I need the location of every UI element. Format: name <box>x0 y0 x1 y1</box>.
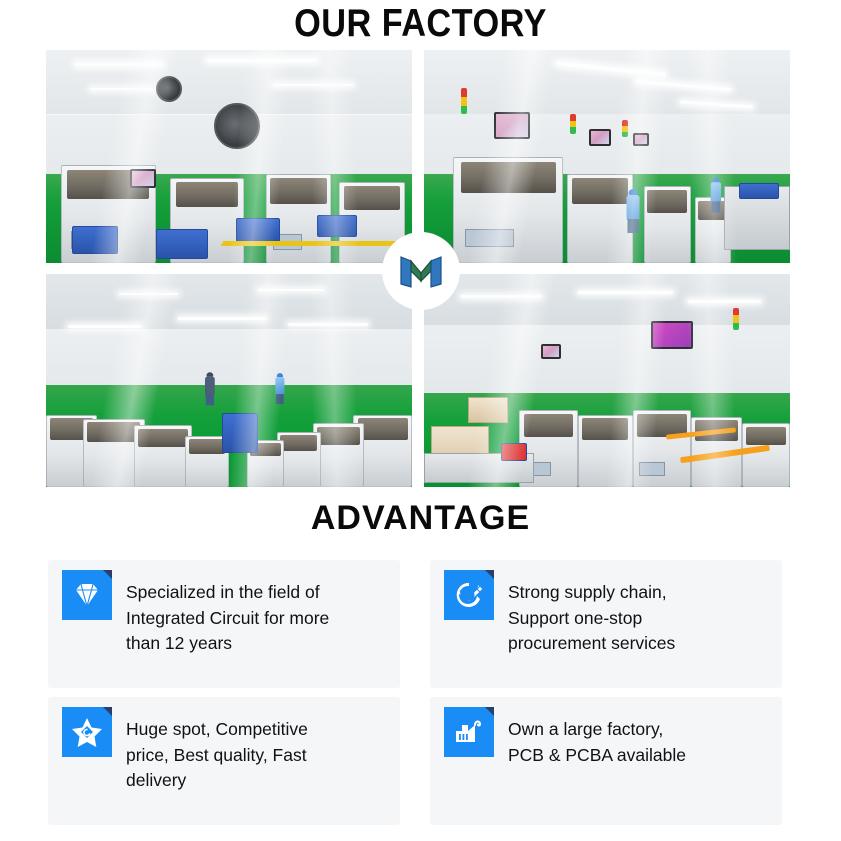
diamond-icon <box>62 570 112 620</box>
star-icon <box>62 707 112 757</box>
photo-top-right <box>424 50 790 263</box>
photo-top-left <box>46 50 412 263</box>
company-logo-badge <box>382 232 460 310</box>
advantage-text: Specialized in the field of Integrated C… <box>126 580 392 657</box>
photo-bottom-left <box>46 274 412 487</box>
page-title-advantage: ADVANTAGE <box>0 498 841 538</box>
advantage-text: Own a large factory, PCB & PCBA availabl… <box>508 717 774 768</box>
advantage-card: Strong supply chain, Support one-stop pr… <box>430 560 782 688</box>
page-title-factory: OUR FACTORY <box>50 2 790 46</box>
gear-pencil-icon <box>444 570 494 620</box>
factory-icon <box>444 707 494 757</box>
advantage-text: Strong supply chain, Support one-stop pr… <box>508 580 774 657</box>
factory-advantage-page: OUR FACTORY <box>0 0 841 841</box>
advantage-card: Own a large factory, PCB & PCBA availabl… <box>430 697 782 825</box>
advantage-card: Huge spot, Competitive price, Best quali… <box>48 697 400 825</box>
advantage-card-grid: Specialized in the field of Integrated C… <box>48 560 793 830</box>
logo-m-icon <box>399 251 443 291</box>
advantage-text: Huge spot, Competitive price, Best quali… <box>126 717 392 794</box>
advantage-card: Specialized in the field of Integrated C… <box>48 560 400 688</box>
photo-bottom-right <box>424 274 790 487</box>
